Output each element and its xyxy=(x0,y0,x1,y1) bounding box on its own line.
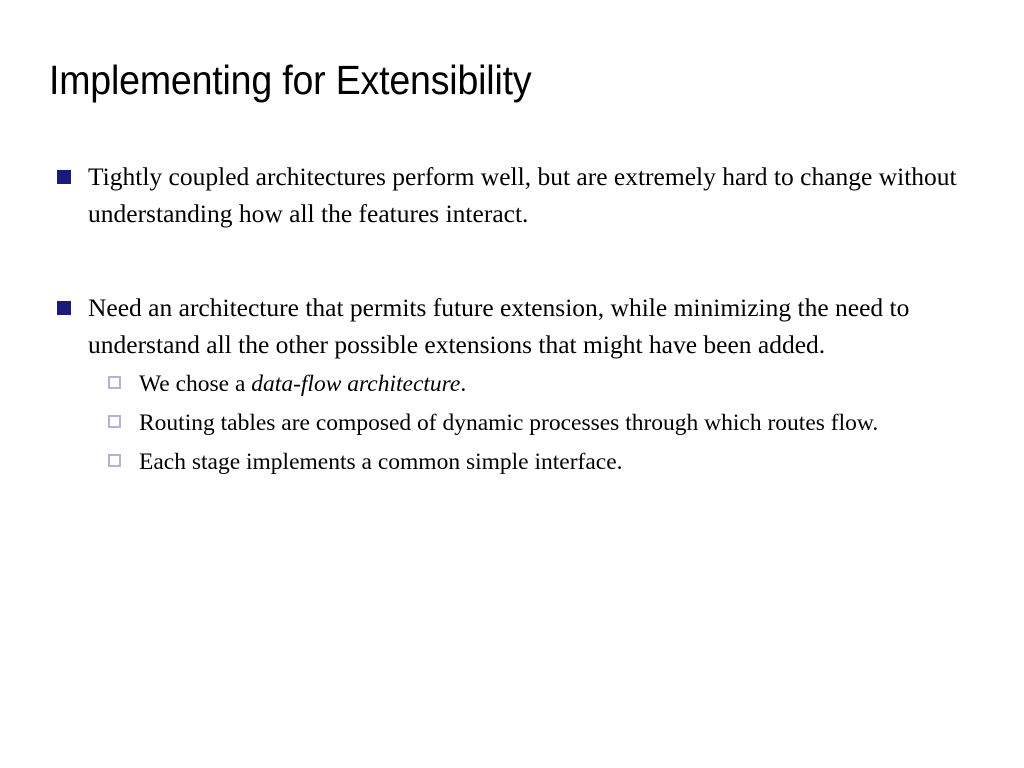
bullet-text: Each stage implements a common simple in… xyxy=(139,444,969,480)
bullet-item-level2: We chose a data-flow architecture. xyxy=(0,366,1024,402)
bullet-text-plain: We chose a xyxy=(139,371,251,397)
bullet-text-trailing: . xyxy=(460,371,466,397)
bullet-hollow-square-icon xyxy=(108,415,121,428)
bullet-hollow-square-icon xyxy=(108,454,121,467)
bullet-hollow-square-icon xyxy=(108,376,121,389)
bullet-item-level2: Each stage implements a common simple in… xyxy=(0,444,1024,480)
bullet-spacer xyxy=(0,232,1024,289)
bullet-item-level2: Routing tables are composed of dynamic p… xyxy=(0,405,1024,441)
slide-canvas: Implementing for Extensibility Tightly c… xyxy=(0,0,1024,768)
bullet-square-icon xyxy=(57,170,71,184)
bullet-text: Routing tables are composed of dynamic p… xyxy=(139,405,969,441)
bullet-text: Tightly coupled architectures perform we… xyxy=(88,158,964,232)
bullet-text-emphasis: data-flow architecture xyxy=(251,371,460,397)
bullet-square-icon xyxy=(57,301,71,315)
bullet-text: We chose a data-flow architecture. xyxy=(139,366,969,402)
bullet-item-level1: Tightly coupled architectures perform we… xyxy=(0,158,1024,232)
slide-title: Implementing for Extensibility xyxy=(49,55,900,105)
bullet-text: Need an architecture that permits future… xyxy=(88,289,964,363)
slide-body: Tightly coupled architectures perform we… xyxy=(0,158,1024,480)
bullet-item-level1: Need an architecture that permits future… xyxy=(0,289,1024,363)
